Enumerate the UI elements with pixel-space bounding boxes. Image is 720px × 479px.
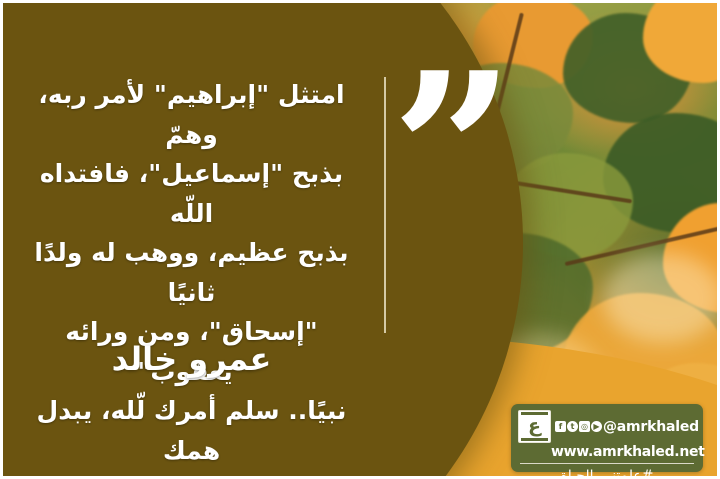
badge-divider <box>520 463 694 464</box>
logo-top-band <box>521 412 548 415</box>
footer-badge: ع f t ◎ ▶ @amrkhaled www.amrkhaled.net #… <box>511 404 703 472</box>
amrkhaled-logo-icon: ع <box>518 410 551 443</box>
quote-author: عمرو خالد <box>21 340 362 378</box>
instagram-icon[interactable]: ◎ <box>579 421 590 432</box>
photo-highlight <box>603 253 720 343</box>
youtube-icon[interactable]: ▶ <box>591 421 602 432</box>
quote-card: ” امتثل "إبراهيم" لأمر ربه، وهمّ بذبح "إ… <box>0 0 720 479</box>
social-handle-text[interactable]: @amrkhaled <box>603 420 699 434</box>
quote-text: امتثل "إبراهيم" لأمر ربه، وهمّ بذبح "إسم… <box>21 75 362 479</box>
vertical-rule <box>384 77 386 333</box>
quotation-mark-icon: ” <box>391 75 515 230</box>
website-url[interactable]: www.amrkhaled.net <box>511 444 703 460</box>
social-handles: f t ◎ ▶ @amrkhaled <box>555 420 699 434</box>
twitter-icon[interactable]: t <box>567 421 578 432</box>
logo-bottom-band <box>521 438 548 441</box>
logo-calligraphy: ع <box>528 417 541 436</box>
handle-block: f t ◎ ▶ @amrkhaled <box>555 420 699 434</box>
hashtag-text: #علمتني_الحياة <box>511 468 703 479</box>
facebook-icon[interactable]: f <box>555 421 566 432</box>
badge-top-row: ع f t ◎ ▶ @amrkhaled <box>511 404 703 443</box>
